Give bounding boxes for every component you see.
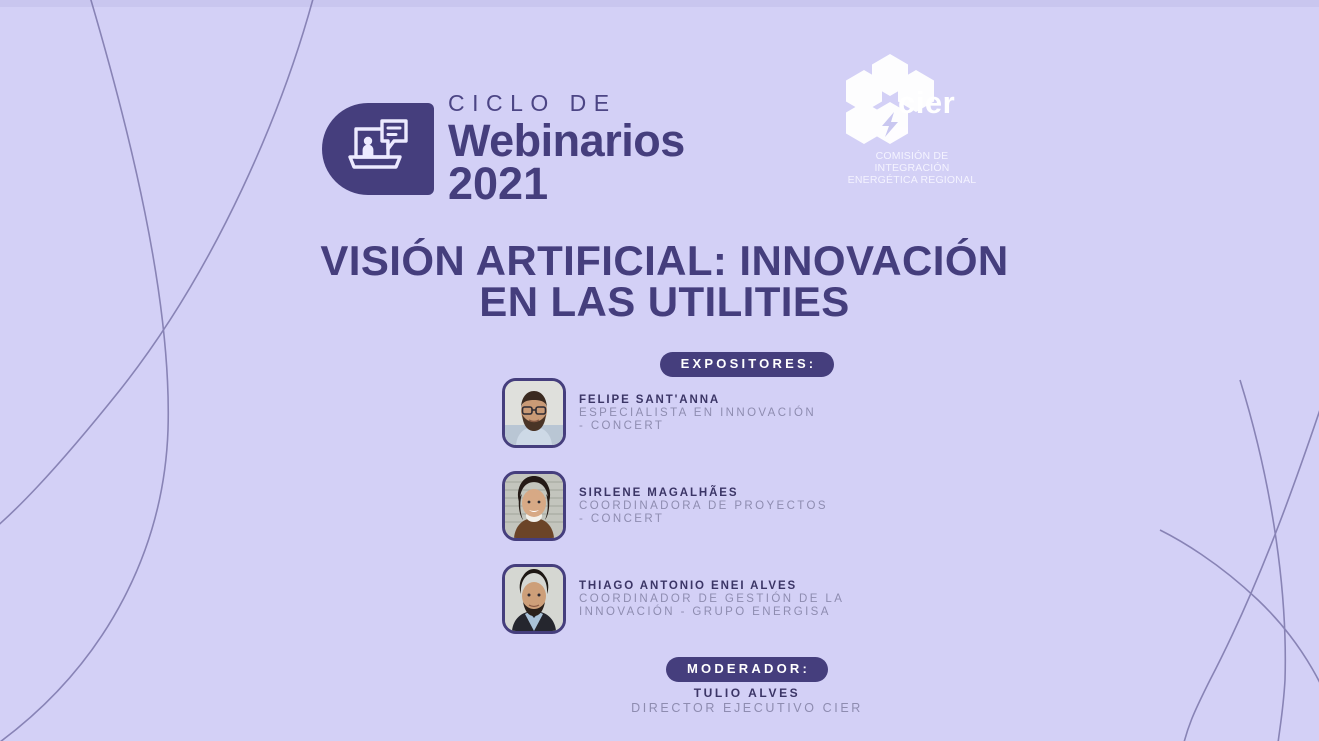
list-item: FELIPE SANT'ANNA ESPECIALISTA EN INNOVAC… xyxy=(502,376,1062,450)
cier-subtitle-line2: ENERGÉTICA REGIONAL xyxy=(838,174,986,186)
svg-text:cier: cier xyxy=(898,85,955,120)
speaker-name: FELIPE SANT'ANNA xyxy=(579,393,816,407)
brand-wordmark: CICLO DE Webinarios 2021 xyxy=(448,92,685,206)
cier-subtitle-line1: COMISIÓN DE INTEGRACIÓN xyxy=(838,150,986,174)
webinarios-label: Webinarios xyxy=(448,118,685,163)
speaker-name: THIAGO ANTONIO ENEI ALVES xyxy=(579,579,844,593)
title-line-2: EN LAS UTILITIES xyxy=(10,281,1319,322)
list-item: SIRLENE MAGALHÃES COORDINADORA DE PROYEC… xyxy=(502,469,1062,543)
moderador-badge: MODERADOR: xyxy=(666,657,828,682)
speaker-role-line2: - CONCERT xyxy=(579,513,828,526)
speaker-text: SIRLENE MAGALHÃES COORDINADORA DE PROYEC… xyxy=(579,486,828,526)
laptop-webinar-icon xyxy=(322,103,434,195)
speaker-text: FELIPE SANT'ANNA ESPECIALISTA EN INNOVAC… xyxy=(579,393,816,433)
cier-logo: cier COMISIÓN DE INTEGRACIÓN ENERGÉTICA … xyxy=(838,50,986,186)
avatar-sirlene-magalhaes xyxy=(502,471,566,541)
top-edge-band xyxy=(0,0,1319,7)
avatar-felipe-santanna xyxy=(502,378,566,448)
cier-hexagon-logo: cier xyxy=(838,50,986,148)
moderator-name: TULIO ALVES xyxy=(502,686,992,701)
speaker-text: THIAGO ANTONIO ENEI ALVES COORDINADOR DE… xyxy=(579,579,844,619)
moderator-role: DIRECTOR EJECUTIVO CIER xyxy=(502,701,992,716)
year-label: 2021 xyxy=(448,161,685,206)
list-item: THIAGO ANTONIO ENEI ALVES COORDINADOR DE… xyxy=(502,562,1062,636)
ciclo-de-label: CICLO DE xyxy=(448,92,685,115)
moderator-section: MODERADOR: TULIO ALVES DIRECTOR EJECUTIV… xyxy=(502,657,992,716)
speaker-role-line2: - CONCERT xyxy=(579,420,816,433)
speaker-role-line2: INNOVACIÓN - GRUPO ENERGISA xyxy=(579,606,844,619)
expositores-badge-container: EXPOSITORES: xyxy=(502,352,992,377)
speaker-role-line1: COORDINADOR DE GESTIÓN DE LA xyxy=(579,593,844,606)
speaker-name: SIRLENE MAGALHÃES xyxy=(579,486,828,500)
speakers-list: FELIPE SANT'ANNA ESPECIALISTA EN INNOVAC… xyxy=(502,376,1062,655)
ciclo-webinarios-logo: CICLO DE Webinarios 2021 xyxy=(322,92,685,206)
expositores-badge: EXPOSITORES: xyxy=(660,352,835,377)
speaker-role-line1: ESPECIALISTA EN INNOVACIÓN xyxy=(579,407,816,420)
cier-subtitle: COMISIÓN DE INTEGRACIÓN ENERGÉTICA REGIO… xyxy=(838,150,986,186)
title-line-1: VISIÓN ARTIFICIAL: INNOVACIÓN xyxy=(10,240,1319,281)
avatar-thiago-antonio-enei-alves xyxy=(502,564,566,634)
page-title: VISIÓN ARTIFICIAL: INNOVACIÓN EN LAS UTI… xyxy=(0,240,1319,322)
speaker-role-line1: COORDINADORA DE PROYECTOS xyxy=(579,500,828,513)
webinar-title-slide: CICLO DE Webinarios 2021 xyxy=(0,0,1319,741)
